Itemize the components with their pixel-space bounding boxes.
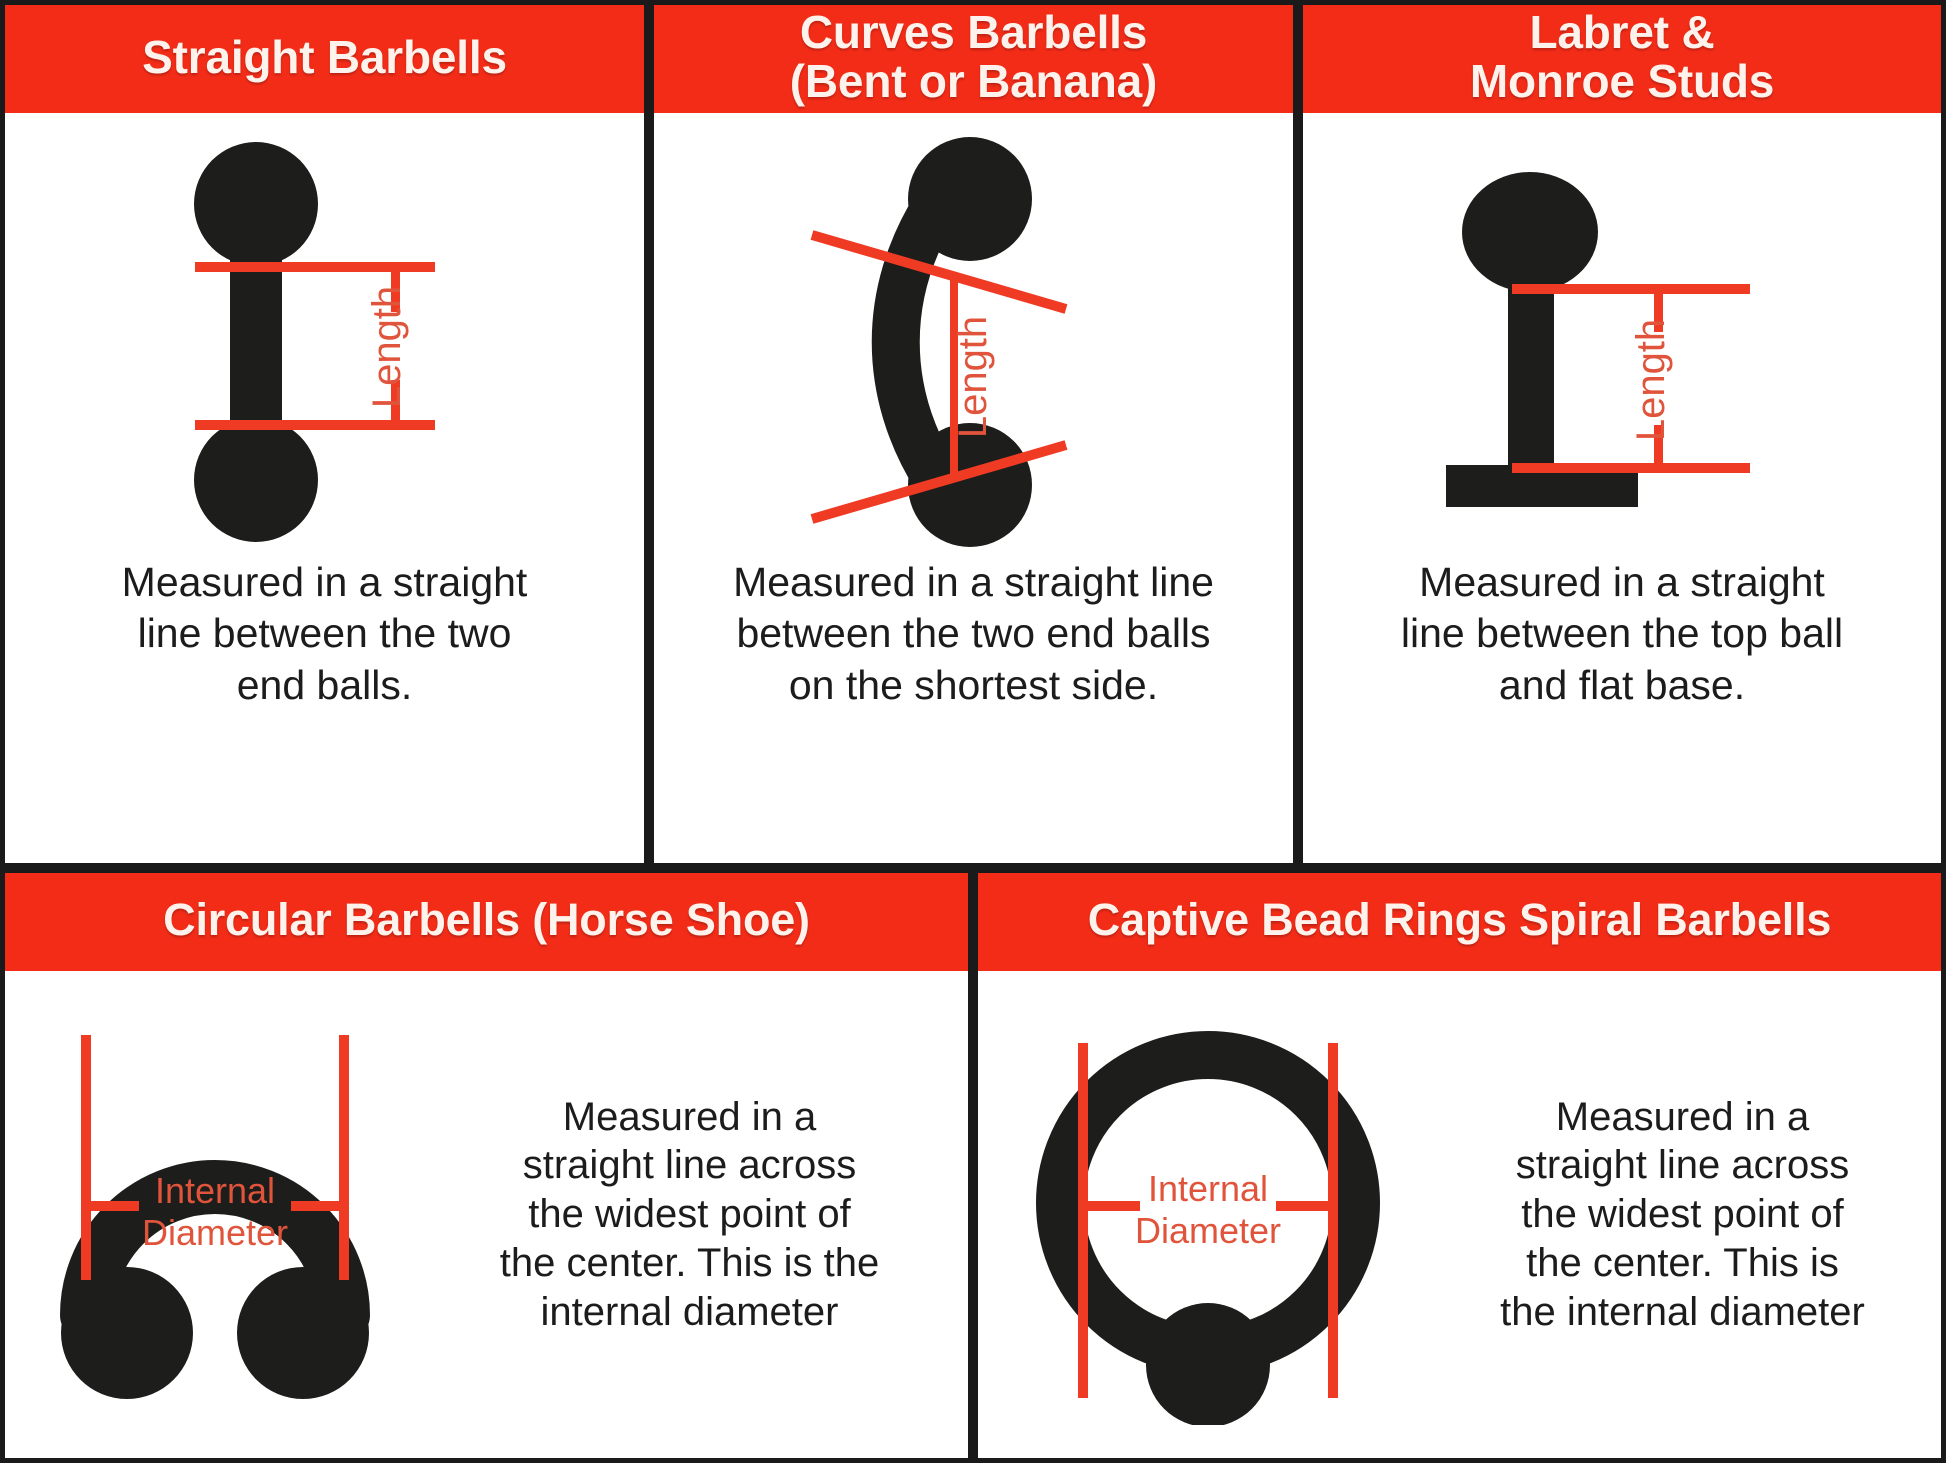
card-body-curved-barbells: Length Measured in a straight line betwe… — [654, 113, 1293, 863]
title-line-1: Curves Barbells — [790, 8, 1157, 57]
top-row: Straight Barbells — [0, 0, 1946, 868]
diameter-extension-right — [1328, 1043, 1338, 1398]
card-caption-captive-bead-rings: Measured in a straight line across the w… — [1438, 1093, 1941, 1337]
caption-line: the center. This is — [1438, 1239, 1927, 1288]
measure-label-length: Length — [1629, 319, 1673, 441]
barbell-bottom-ball — [194, 418, 318, 542]
diameter-arrow-right — [291, 1201, 349, 1211]
captive-bead — [1146, 1303, 1270, 1425]
diameter-extension-left — [81, 1035, 91, 1280]
straight-barbell-diagram: Length — [135, 132, 515, 552]
caption-line: straight line across — [1438, 1141, 1927, 1190]
figure-captive-bead-ring: Internal Diameter — [978, 1005, 1438, 1425]
card-caption-circular-barbells: Measured in a straight line across the w… — [425, 1093, 968, 1337]
card-circular-barbells: Circular Barbells (Horse Shoe) — [0, 868, 973, 1463]
caption-line: end balls. — [122, 660, 528, 711]
card-title-curved-barbells: Curves Barbells (Bent or Banana) — [654, 5, 1293, 113]
card-caption-labret-monroe-studs: Measured in a straight line between the … — [1375, 557, 1869, 711]
measure-line-bottom — [1512, 463, 1750, 473]
card-title-labret-monroe-studs: Labret & Monroe Studs — [1303, 5, 1941, 113]
diameter-arrow-right — [1276, 1201, 1338, 1211]
caption-line: line between the top ball — [1401, 608, 1843, 659]
diameter-arrow-left — [1078, 1201, 1140, 1211]
figure-curved-barbell: Length — [654, 127, 1293, 557]
stud-top-ball — [1462, 172, 1598, 292]
measure-label-diameter: Diameter — [142, 1212, 288, 1253]
title-line-1: Circular Barbells (Horse Shoe) — [163, 896, 810, 944]
card-captive-bead-rings: Captive Bead Rings Spiral Barbells — [973, 868, 1946, 1463]
labret-stud-diagram: Length — [1422, 132, 1822, 552]
caption-line: internal diameter — [425, 1288, 954, 1337]
barbell-top-ball — [194, 142, 318, 266]
caption-line: and flat base. — [1401, 660, 1843, 711]
caption-line: line between the two — [122, 608, 528, 659]
caption-line: Measured in a straight line — [733, 557, 1214, 608]
horseshoe-diagram: Internal Diameter — [15, 1015, 415, 1415]
card-caption-straight-barbells: Measured in a straight line between the … — [96, 557, 554, 711]
diameter-extension-left — [1078, 1043, 1088, 1398]
diameter-arrow-left — [81, 1201, 139, 1211]
captive-bead-ring-diagram: Internal Diameter — [998, 1005, 1418, 1425]
caption-line: between the two end balls — [733, 608, 1214, 659]
diameter-extension-right — [339, 1035, 349, 1280]
title-line-1: Straight Barbells — [142, 33, 507, 82]
card-body-straight-barbells: Length Measured in a straight line betwe… — [5, 113, 644, 863]
infographic-sheet: Straight Barbells — [0, 0, 1946, 1463]
measure-line-top — [1512, 284, 1750, 294]
caption-line: Measured in a — [1438, 1093, 1927, 1142]
measure-label-diameter: Diameter — [1135, 1210, 1281, 1251]
bottom-row: Circular Barbells (Horse Shoe) — [0, 868, 1946, 1463]
measure-label-internal: Internal — [155, 1170, 275, 1211]
caption-line: Measured in a — [425, 1093, 954, 1142]
title-line-1: Captive Bead Rings Spiral Barbells — [1088, 896, 1831, 944]
card-caption-curved-barbells: Measured in a straight line between the … — [707, 557, 1240, 711]
caption-line: the widest point of — [1438, 1190, 1927, 1239]
measure-label-internal: Internal — [1148, 1168, 1268, 1209]
figure-circular-barbell: Internal Diameter — [5, 1015, 425, 1415]
figure-labret-stud: Length — [1303, 127, 1941, 557]
card-straight-barbells: Straight Barbells — [0, 0, 649, 868]
measure-label-length: Length — [951, 316, 995, 438]
card-body-circular-barbells: Internal Diameter Measured in a straight… — [5, 971, 968, 1458]
card-title-straight-barbells: Straight Barbells — [5, 5, 644, 113]
title-line-2: Monroe Studs — [1470, 57, 1774, 106]
caption-line: Measured in a straight — [1401, 557, 1843, 608]
card-labret-monroe-studs: Labret & Monroe Studs — [1298, 0, 1946, 868]
card-title-circular-barbells: Circular Barbells (Horse Shoe) — [5, 873, 968, 971]
caption-line: the widest point of — [425, 1190, 954, 1239]
curved-barbell-diagram: Length — [774, 127, 1174, 557]
caption-line: the internal diameter — [1438, 1288, 1927, 1337]
caption-line: the center. This is the — [425, 1239, 954, 1288]
measure-label-length: Length — [365, 286, 409, 408]
card-title-captive-bead-rings: Captive Bead Rings Spiral Barbells — [978, 873, 1941, 971]
horseshoe-left-ball — [61, 1267, 193, 1399]
figure-straight-barbell: Length — [5, 127, 644, 557]
caption-line: Measured in a straight — [122, 557, 528, 608]
barbell-top-ball — [908, 137, 1032, 261]
card-body-captive-bead-rings: Internal Diameter Measured in a straight… — [978, 971, 1941, 1458]
card-body-labret-monroe-studs: Length Measured in a straight line betwe… — [1303, 113, 1941, 863]
title-line-2: (Bent or Banana) — [790, 57, 1157, 106]
card-curved-barbells: Curves Barbells (Bent or Banana) — [649, 0, 1298, 868]
caption-line: on the shortest side. — [733, 660, 1214, 711]
caption-line: straight line across — [425, 1141, 954, 1190]
title-line-1: Labret & — [1470, 8, 1774, 57]
horseshoe-right-ball — [237, 1267, 369, 1399]
